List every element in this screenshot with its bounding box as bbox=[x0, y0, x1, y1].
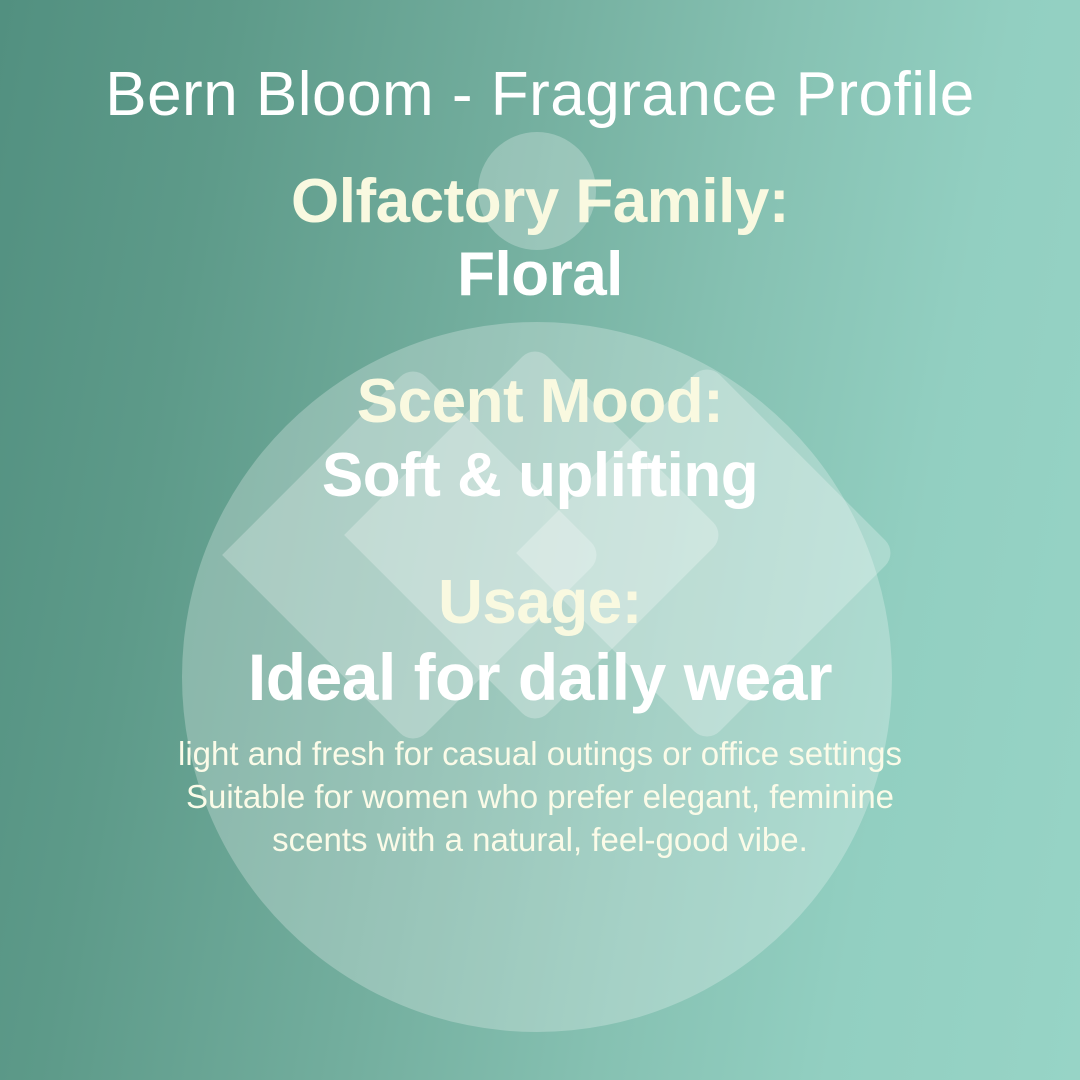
field-label: Olfactory Family: bbox=[0, 165, 1080, 238]
field-label: Scent Mood: bbox=[0, 365, 1080, 438]
description-block: light and fresh for casual outings or of… bbox=[0, 733, 1080, 862]
fragrance-profile-poster: Bern Bloom - Fragrance Profile Olfactory… bbox=[0, 0, 1080, 1080]
page-title: Bern Bloom - Fragrance Profile bbox=[105, 0, 975, 127]
field-label: Usage: bbox=[0, 566, 1080, 639]
description-line: Suitable for women who prefer elegant, f… bbox=[0, 776, 1080, 819]
field-value: Floral bbox=[0, 238, 1080, 311]
field-value: Soft & uplifting bbox=[0, 439, 1080, 512]
poster-content: Bern Bloom - Fragrance Profile Olfactory… bbox=[0, 0, 1080, 1080]
field-scent-mood: Scent Mood: Soft & uplifting bbox=[0, 365, 1080, 511]
field-olfactory-family: Olfactory Family: Floral bbox=[0, 165, 1080, 311]
field-usage: Usage: Ideal for daily wear bbox=[0, 566, 1080, 717]
field-value: Ideal for daily wear bbox=[0, 639, 1080, 717]
fragrance-field-list: Olfactory Family: Floral Scent Mood: Sof… bbox=[0, 165, 1080, 717]
description-line: light and fresh for casual outings or of… bbox=[0, 733, 1080, 776]
description-line: scents with a natural, feel-good vibe. bbox=[0, 819, 1080, 862]
